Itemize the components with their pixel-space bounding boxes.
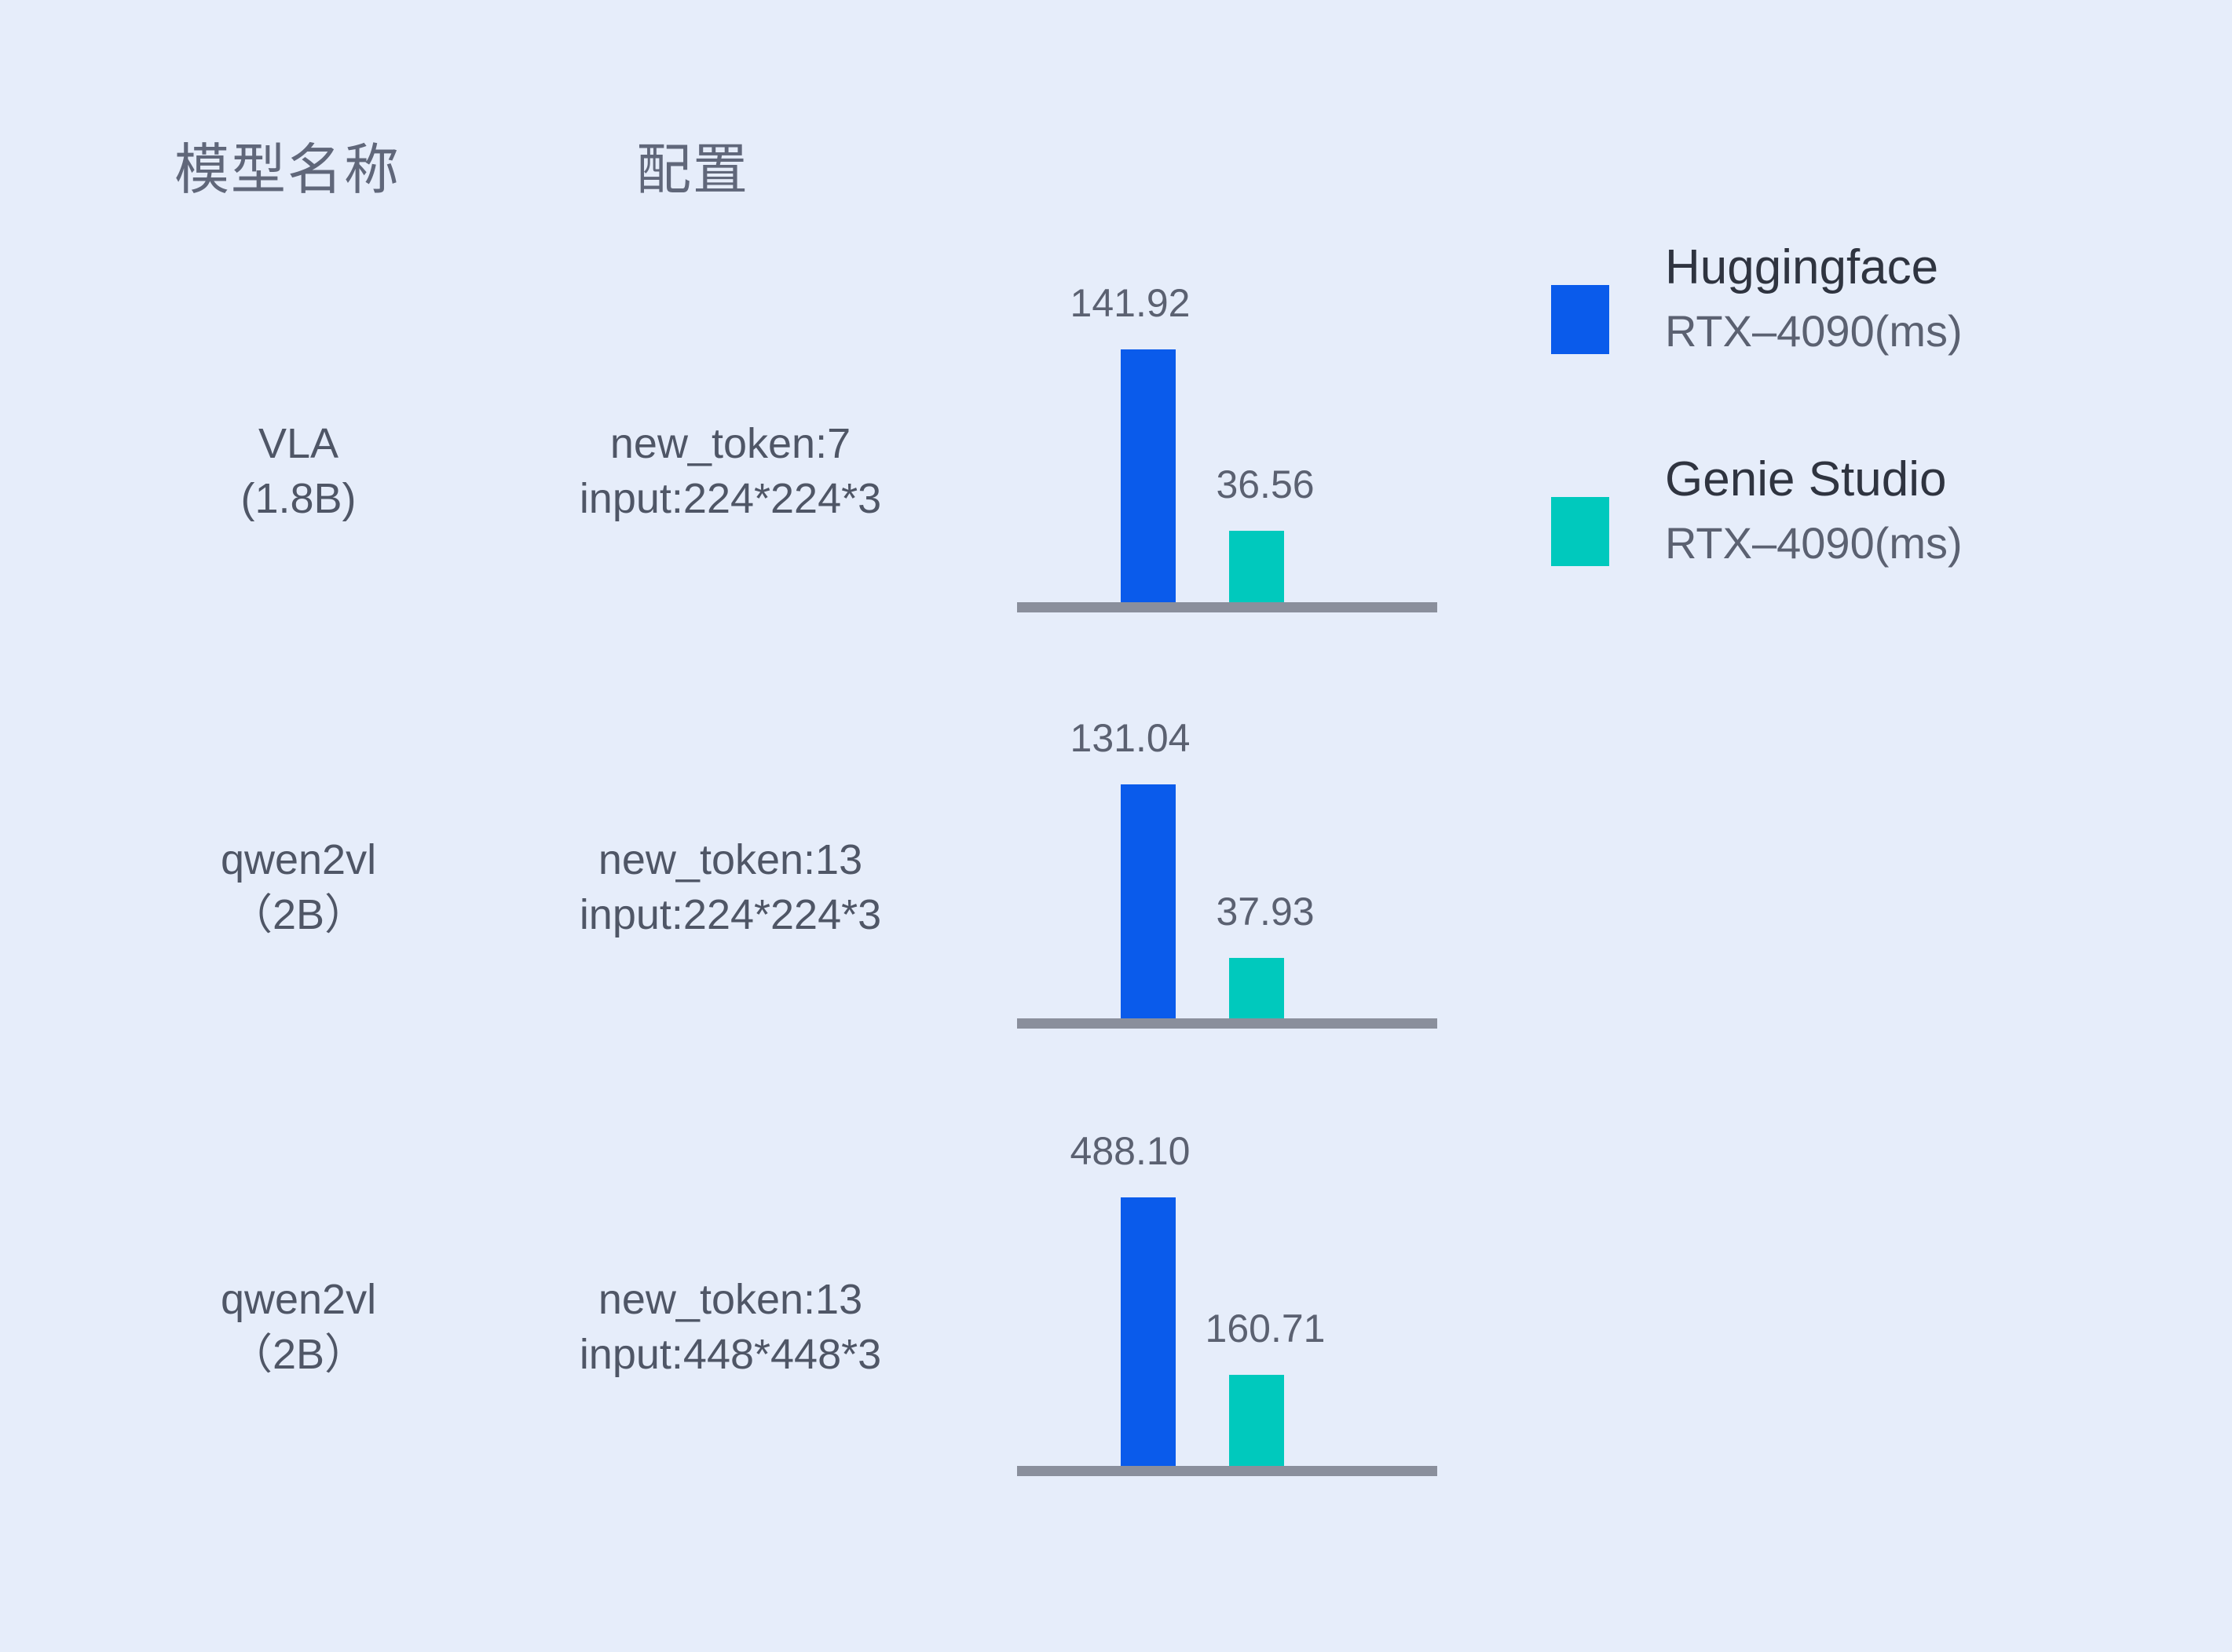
model-name-cell: VLA (1.8B) bbox=[157, 416, 440, 526]
bar-chart-panel: 141.92 36.56 bbox=[1017, 236, 1445, 612]
bar-chart-panel: 131.04 37.93 bbox=[1017, 652, 1445, 1029]
bar-chart-panel: 488.10 160.71 bbox=[1017, 1091, 1445, 1476]
config-cell: new_token:13 input:448*448*3 bbox=[487, 1272, 974, 1382]
chart-legend: Huggingface RTX–4090(ms) Genie Studio RT… bbox=[1551, 239, 2195, 609]
bar-huggingface: 131.04 bbox=[1121, 784, 1176, 1018]
axis-baseline bbox=[1017, 1466, 1437, 1476]
model-name-line2: （2B） bbox=[157, 1327, 440, 1382]
model-name-line1: qwen2vl bbox=[157, 832, 440, 887]
model-name-cell: qwen2vl （2B） bbox=[157, 832, 440, 942]
bar-value-label: 488.10 bbox=[1070, 1128, 1191, 1174]
bar-genie-studio: 160.71 bbox=[1229, 1375, 1284, 1466]
legend-title: Genie Studio bbox=[1665, 451, 1963, 507]
legend-text-group: Huggingface RTX–4090(ms) bbox=[1665, 239, 1963, 357]
bar-huggingface: 141.92 bbox=[1121, 349, 1176, 602]
model-name-line1: qwen2vl bbox=[157, 1272, 440, 1327]
axis-baseline bbox=[1017, 602, 1437, 612]
config-line2: input:448*448*3 bbox=[487, 1327, 974, 1382]
legend-subtitle: RTX–4090(ms) bbox=[1665, 306, 1963, 356]
config-line1: new_token:13 bbox=[487, 1272, 974, 1327]
legend-swatch-icon bbox=[1551, 497, 1609, 566]
bar-value-label: 36.56 bbox=[1216, 462, 1314, 507]
config-line2: input:224*224*3 bbox=[487, 471, 974, 526]
model-name-line2: （2B） bbox=[157, 887, 440, 942]
legend-item-huggingface: Huggingface RTX–4090(ms) bbox=[1551, 239, 2195, 397]
bar-value-label: 141.92 bbox=[1070, 280, 1191, 326]
bar-genie-studio: 36.56 bbox=[1229, 531, 1284, 602]
config-line2: input:224*224*3 bbox=[487, 887, 974, 942]
model-name-cell: qwen2vl （2B） bbox=[157, 1272, 440, 1382]
config-cell: new_token:13 input:224*224*3 bbox=[487, 832, 974, 942]
config-line1: new_token:7 bbox=[487, 416, 974, 471]
legend-subtitle: RTX–4090(ms) bbox=[1665, 518, 1963, 568]
bar-genie-studio: 37.93 bbox=[1229, 958, 1284, 1018]
legend-text-group: Genie Studio RTX–4090(ms) bbox=[1665, 451, 1963, 569]
bar-value-label: 160.71 bbox=[1206, 1306, 1326, 1351]
bar-huggingface: 488.10 bbox=[1121, 1197, 1176, 1476]
legend-title: Huggingface bbox=[1665, 239, 1963, 295]
model-name-line1: VLA bbox=[157, 416, 440, 471]
axis-baseline bbox=[1017, 1018, 1437, 1029]
legend-swatch-icon bbox=[1551, 285, 1609, 354]
bar-value-label: 37.93 bbox=[1216, 889, 1314, 934]
config-cell: new_token:7 input:224*224*3 bbox=[487, 416, 974, 526]
model-name-line2: (1.8B) bbox=[157, 471, 440, 526]
bar-value-label: 131.04 bbox=[1070, 715, 1191, 761]
legend-item-genie-studio: Genie Studio RTX–4090(ms) bbox=[1551, 451, 2195, 609]
config-line1: new_token:13 bbox=[487, 832, 974, 887]
